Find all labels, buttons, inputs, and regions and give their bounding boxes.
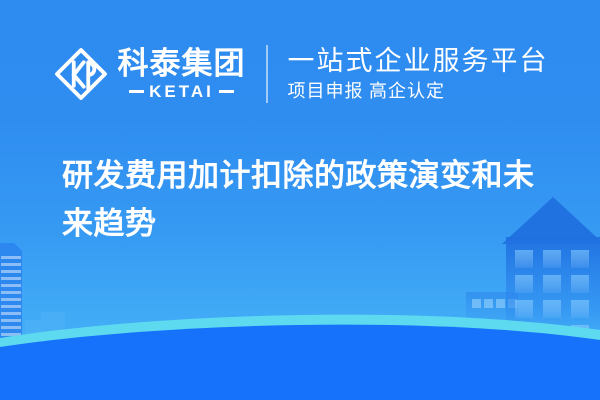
brand-divider — [266, 45, 268, 103]
tagline-main: 一站式企业服务平台 — [288, 46, 549, 77]
logo-name-cn: 科泰集团 — [118, 48, 246, 81]
logo-rule-left — [129, 90, 144, 93]
tagline-block: 一站式企业服务平台 项目申报 高企认定 — [288, 46, 549, 103]
logo-en-row: KETAI — [118, 83, 246, 100]
banner-root: 科泰集团 KETAI 一站式企业服务平台 项目申报 高企认定 研发费用加计扣除的… — [0, 0, 600, 400]
logo-wordmark: 科泰集团 KETAI — [118, 48, 246, 101]
left-lowrise-cluster — [25, 312, 65, 350]
left-skyscraper — [0, 243, 22, 352]
article-headline: 研发费用加计扣除的政策演变和未来趋势 — [62, 152, 544, 248]
ketai-kp-monogram-icon — [52, 45, 110, 103]
logo-rule-right — [219, 90, 234, 93]
tagline-sub: 项目申报 高企认定 — [288, 81, 549, 103]
right-lowrise-block — [466, 292, 518, 352]
brand-bar: 科泰集团 KETAI 一站式企业服务平台 项目申报 高企认定 — [0, 36, 600, 112]
logo-name-en: KETAI — [149, 83, 214, 100]
brand-logo[interactable]: 科泰集团 KETAI — [52, 41, 246, 107]
ground-curve-band — [0, 315, 600, 400]
